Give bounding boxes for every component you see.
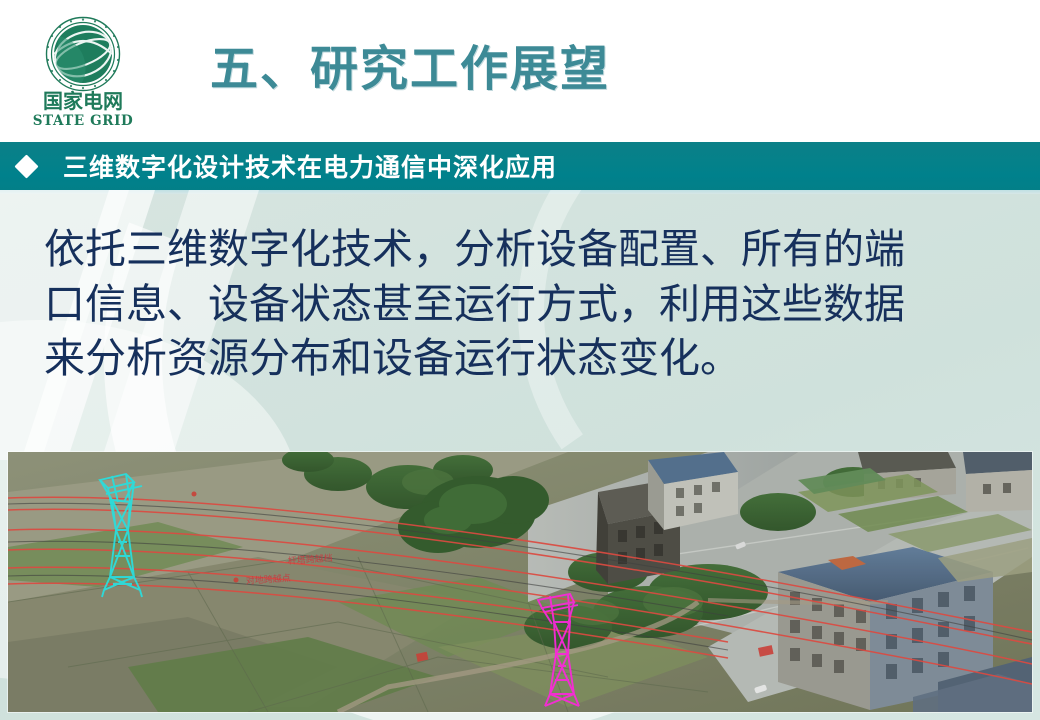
presentation-slide: 国家电网 STATE GRID 五、研究工作展望 三维数字化设计技术在电力通信中… [0,0,1040,720]
logo-cn-text: 国家电网 [43,89,123,113]
section-heading-bar: 三维数字化设计技术在电力通信中深化应用 [0,142,1040,190]
body-line-1: 依托三维数字化技术，分析设备配置、所有的端 [44,222,1004,277]
page-title: 五、研究工作展望 [210,45,610,93]
slide-header: 国家电网 STATE GRID 五、研究工作展望 [0,0,1040,142]
section-heading-label: 三维数字化设计技术在电力通信中深化应用 [63,148,557,184]
body-paragraph: 依托三维数字化技术，分析设备配置、所有的端 口信息、设备状态甚至运行方式，利用这… [44,222,1004,386]
aerial-3d-model-screenshot: 杆塔跨越档 对地跨越点 [8,452,1032,712]
logo-en-text: STATE GRID [33,113,134,129]
diamond-icon [14,154,38,178]
body-line-2: 口信息、设备状态甚至运行方式，利用这些数据 [44,277,1004,332]
body-line-3: 来分析资源分布和设备运行状态变化。 [44,331,1004,386]
state-grid-logo: 国家电网 STATE GRID [24,16,142,132]
